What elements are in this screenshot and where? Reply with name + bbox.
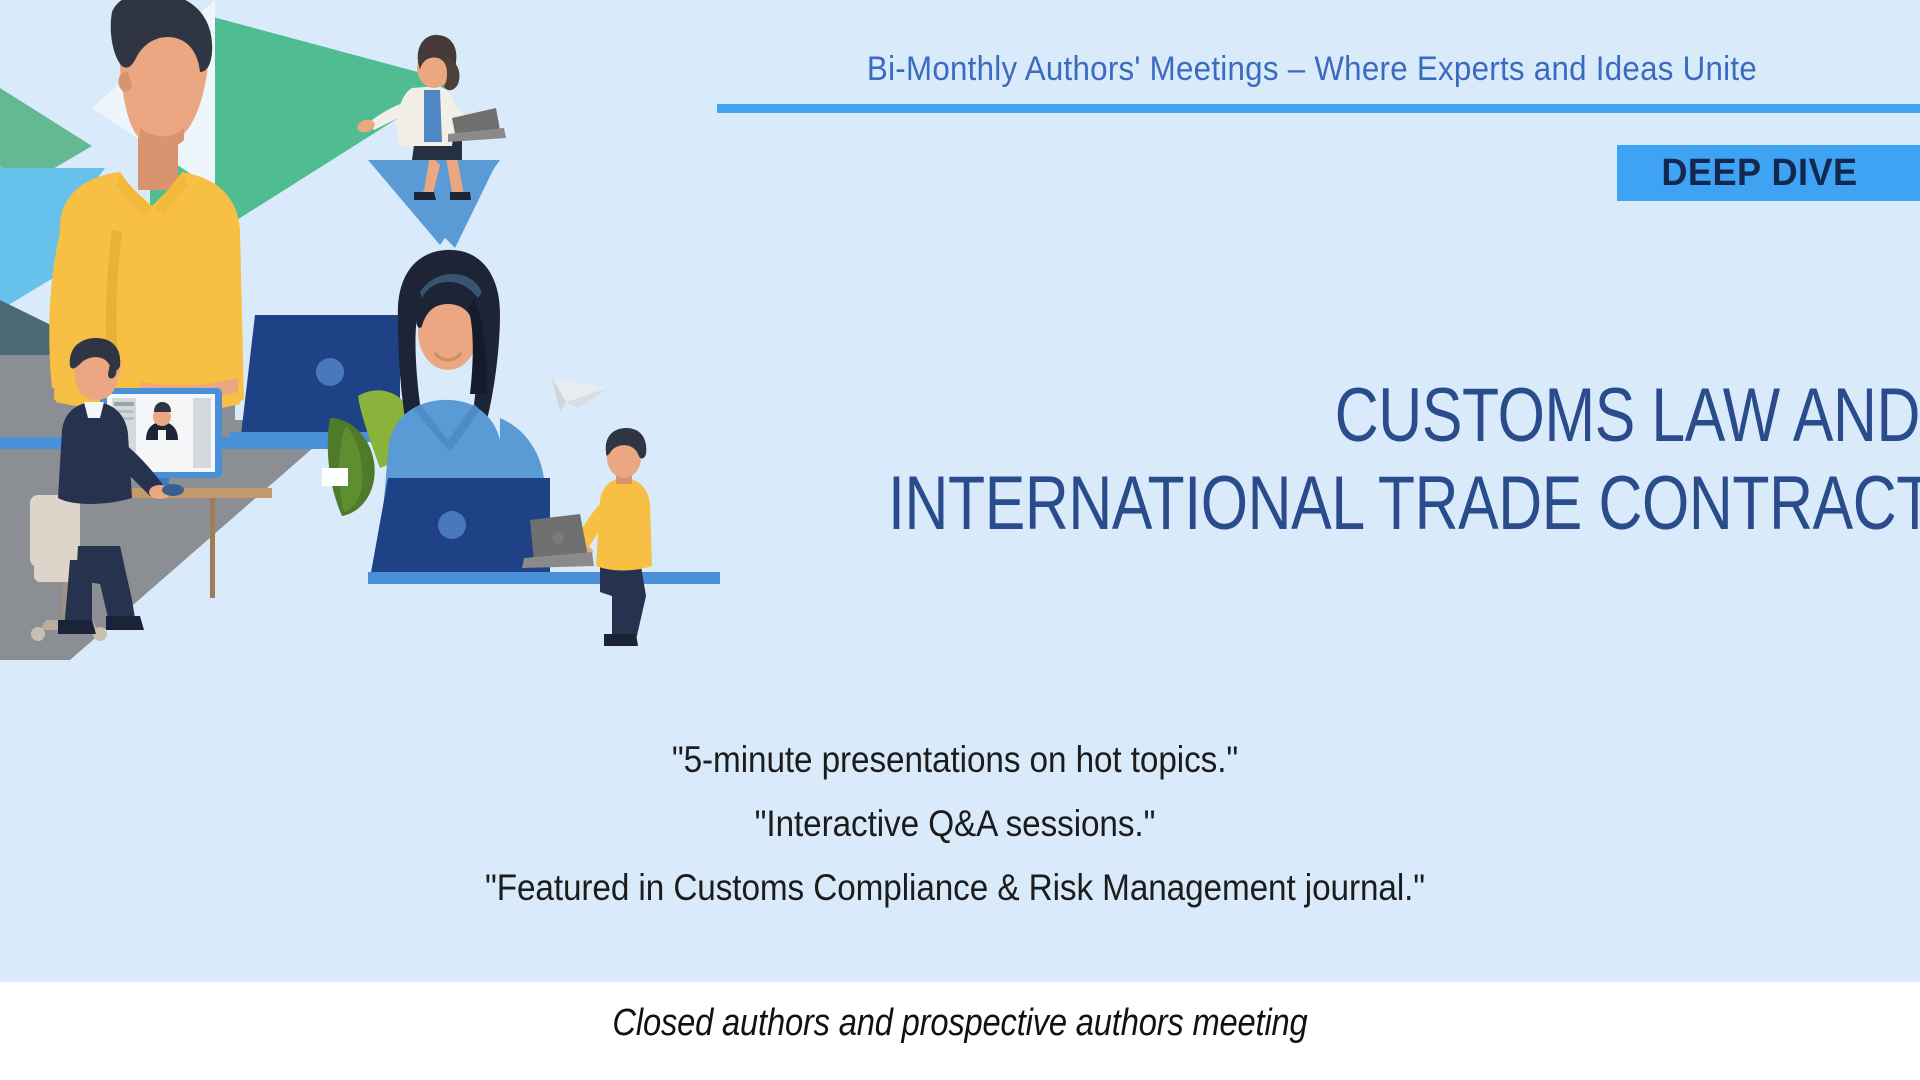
main-title: CUSTOMS LAW AND INTERNATIONAL TRADE CONT… bbox=[630, 372, 1920, 548]
main-title-line-2: INTERNATIONAL TRADE CONTRACTS bbox=[888, 460, 1920, 548]
status-badge: DEEP DIVE bbox=[1617, 145, 1920, 201]
page-title: Bi-Monthly Authors' Meetings – Where Exp… bbox=[765, 50, 1860, 89]
chair-back bbox=[30, 495, 80, 567]
header-divider bbox=[717, 104, 1920, 113]
main-title-line-1: CUSTOMS LAW AND bbox=[888, 372, 1920, 460]
footer-caption: Closed authors and prospective authors m… bbox=[134, 1002, 1785, 1045]
quote-line-2: "Interactive Q&A sessions." bbox=[402, 792, 1509, 856]
remote-collaboration-illustration bbox=[0, 0, 720, 660]
white-card-shape bbox=[322, 468, 348, 486]
slide-canvas: Bi-Monthly Authors' Meetings – Where Exp… bbox=[0, 0, 1920, 982]
blue-bar-bottom bbox=[368, 572, 720, 584]
presentation-slide: Bi-Monthly Authors' Meetings – Where Exp… bbox=[0, 0, 1920, 1080]
quote-line-3: "Featured in Customs Compliance & Risk M… bbox=[402, 856, 1509, 920]
quote-line-1: "5-minute presentations on hot topics." bbox=[402, 728, 1509, 792]
status-badge-label: DEEP DIVE bbox=[1624, 145, 1895, 201]
quote-list: "5-minute presentations on hot topics." … bbox=[340, 728, 1570, 920]
